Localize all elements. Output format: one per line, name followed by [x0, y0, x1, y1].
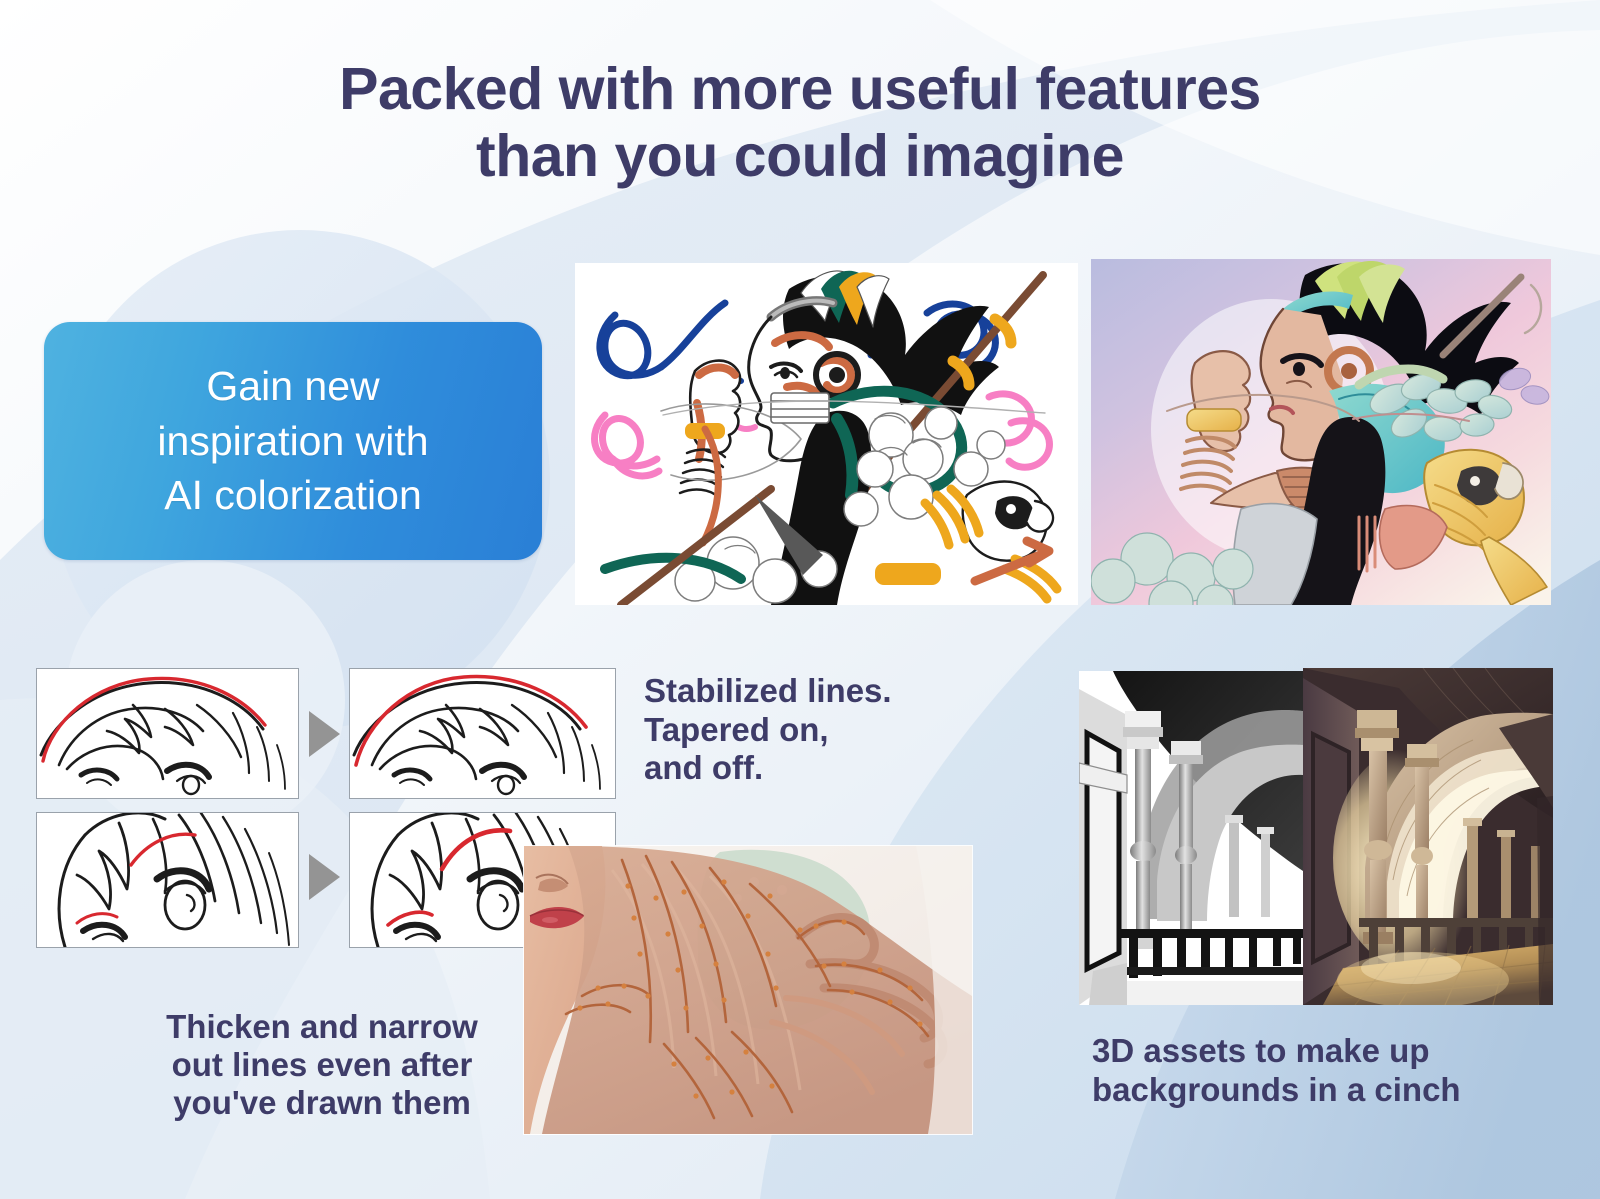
- caption-3d-line-2: backgrounds in a cinch: [1092, 1071, 1461, 1110]
- ai-colorization-callout[interactable]: Gain new inspiration with AI colorizatio…: [44, 322, 542, 560]
- callout-line-1: Gain new: [157, 359, 428, 414]
- 3d-gray-model: [1079, 671, 1303, 1005]
- brow-lineart-before: [37, 813, 298, 947]
- slide-title: Packed with more useful features than yo…: [0, 56, 1600, 191]
- caption-thicken-line-3: you've drawn them: [142, 1084, 502, 1122]
- callout-line-2: inspiration with: [157, 414, 428, 469]
- colorized-illustration: [1091, 259, 1551, 605]
- hair-lineart-after: [350, 669, 615, 798]
- caption-stabilized-line-2: Tapered on,: [644, 711, 892, 750]
- demo-row2-before: [36, 812, 299, 948]
- colorized-illustration-panel: [1091, 259, 1551, 605]
- 3d-gray-model-panel: [1079, 671, 1303, 1005]
- lineart-illustration-panel: [575, 263, 1078, 605]
- caption-3d-assets: 3D assets to make up backgrounds in a ci…: [1092, 1032, 1461, 1110]
- callout-line-3: AI colorization: [157, 468, 428, 523]
- lineart-illustration: [575, 263, 1078, 605]
- caption-stabilized-line-3: and off.: [644, 749, 892, 788]
- demo-row1-after: [349, 668, 616, 799]
- slide-canvas: Packed with more useful features than yo…: [0, 0, 1600, 1199]
- title-line-2: than you could imagine: [0, 123, 1600, 190]
- caption-thicken-line-2: out lines even after: [142, 1046, 502, 1084]
- demo-arrow-row2-icon: [309, 854, 340, 900]
- caption-thicken-line-1: Thicken and narrow: [142, 1008, 502, 1046]
- title-line-1: Packed with more useful features: [0, 56, 1600, 123]
- caption-stabilized-lines: Stabilized lines. Tapered on, and off.: [644, 672, 892, 788]
- hair-lineart-before: [37, 669, 298, 798]
- 3d-rendered-background: [1303, 668, 1553, 1005]
- demo-arrow-row1-icon: [309, 711, 340, 757]
- demo-row1-before: [36, 668, 299, 799]
- hair-illustration-panel: [524, 846, 972, 1134]
- caption-thicken-narrow: Thicken and narrow out lines even after …: [142, 1008, 502, 1122]
- 3d-rendered-panel: [1303, 668, 1553, 1005]
- caption-stabilized-line-1: Stabilized lines.: [644, 672, 892, 711]
- caption-3d-line-1: 3D assets to make up: [1092, 1032, 1461, 1071]
- callout-text: Gain new inspiration with AI colorizatio…: [157, 359, 428, 523]
- hair-illustration: [524, 846, 972, 1134]
